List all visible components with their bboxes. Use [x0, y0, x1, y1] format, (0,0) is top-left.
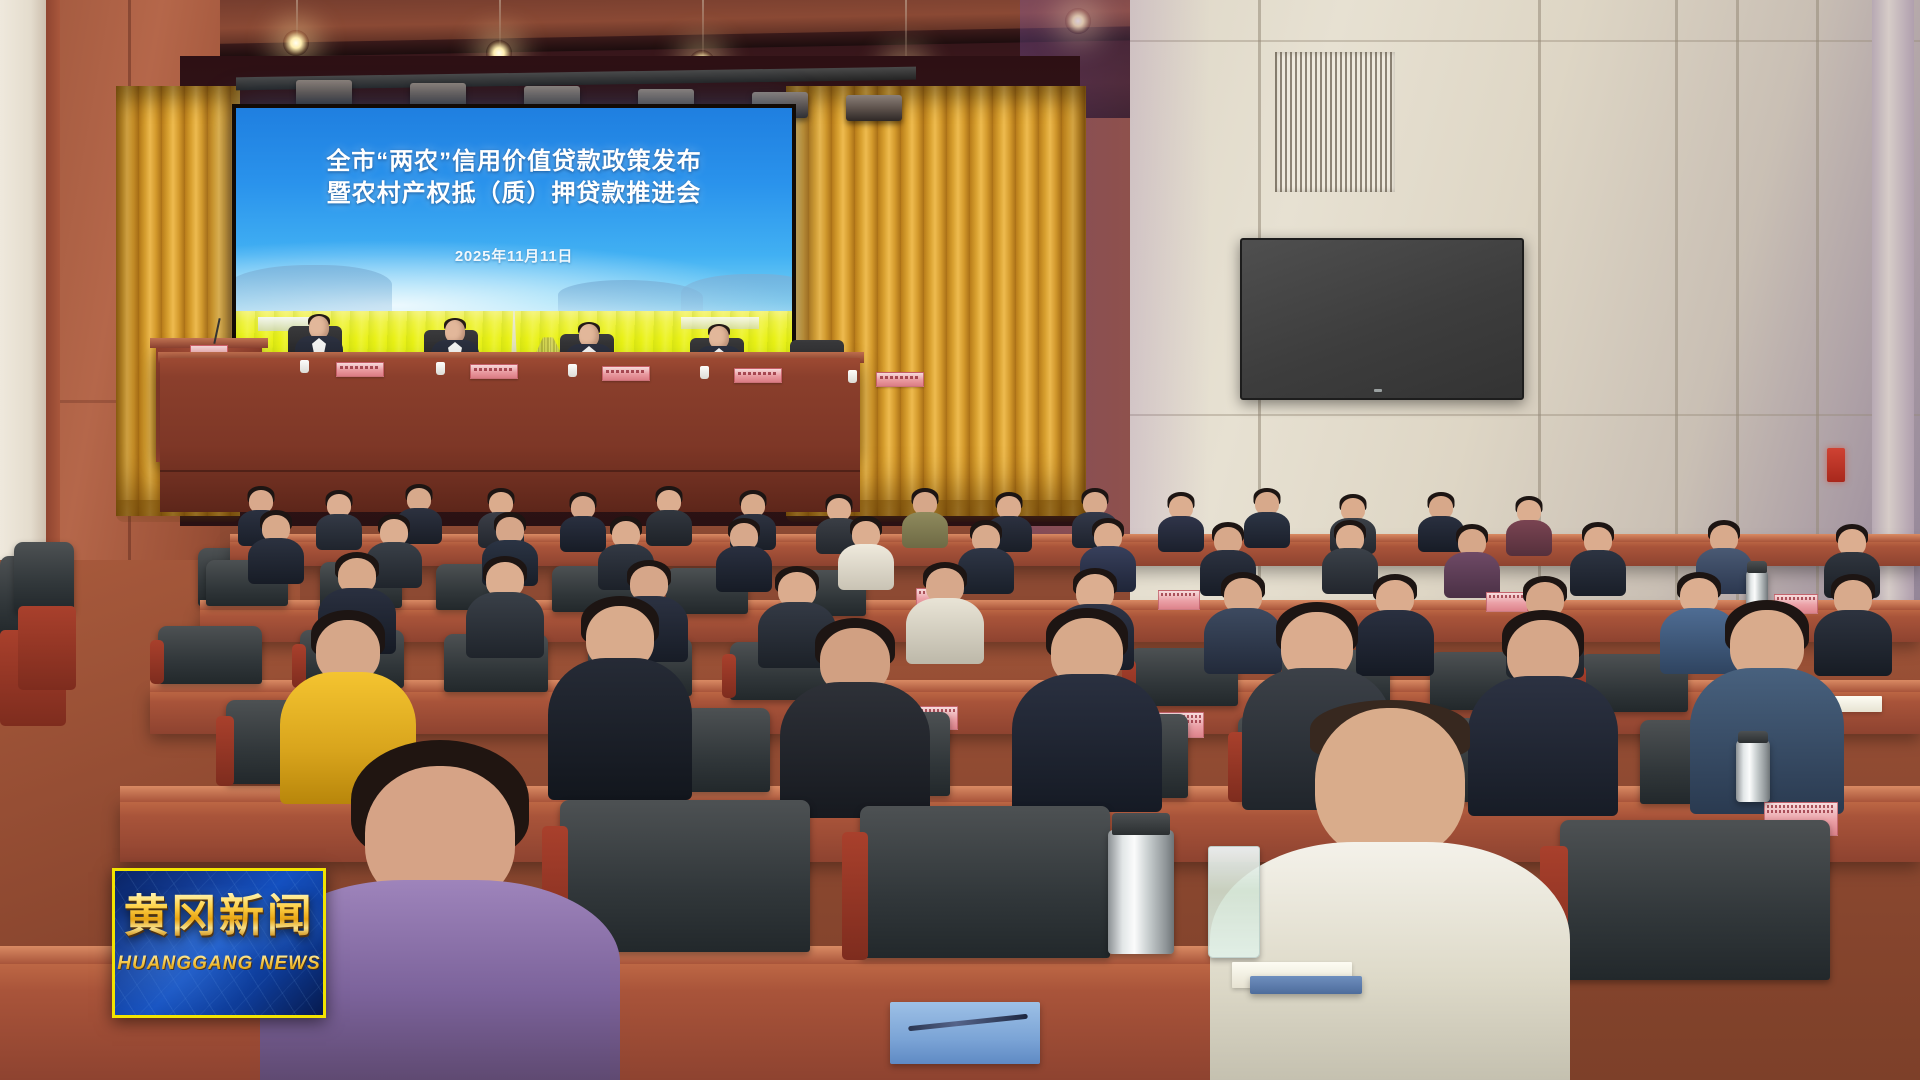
head-table-name-card	[602, 366, 650, 381]
ceiling-spotlight	[283, 30, 309, 56]
audience-member	[248, 510, 304, 582]
audience-member	[1506, 496, 1552, 554]
logo-english-title: HUANGGANG NEWS	[115, 953, 323, 975]
water-cup	[848, 370, 857, 383]
audience-member	[902, 488, 948, 546]
foreground-chair	[860, 806, 1110, 958]
thermos-lid	[1747, 561, 1766, 573]
thermos-lid	[1112, 813, 1170, 835]
torso	[1158, 516, 1204, 552]
glass-tea-cup	[1208, 846, 1260, 958]
head-table-name-card	[734, 368, 782, 383]
audience-member	[1012, 608, 1162, 808]
foreground-chair-frame	[842, 832, 868, 960]
audience-chair	[158, 626, 262, 684]
audience-member	[316, 490, 362, 548]
side-chair	[14, 542, 74, 612]
led-title-line1: 全市“两农”信用价值贷款政策发布	[326, 148, 701, 175]
torso	[902, 512, 948, 548]
head	[1315, 708, 1465, 858]
channel-logo-bug: 黄冈新闻 HUANGGANG NEWS	[112, 868, 326, 1018]
audience-member	[1158, 492, 1204, 550]
torso	[1210, 842, 1570, 1080]
torso	[248, 538, 304, 584]
head-table-name-card	[470, 364, 518, 379]
notebook	[890, 1002, 1040, 1064]
led-title: 全市“两农”信用价值贷款政策发布 暨农村产权抵（质）押贷款推进会	[236, 146, 792, 210]
audience-member	[780, 618, 930, 814]
foreground-member-white-shirt	[1210, 700, 1570, 1080]
monitor-power-led	[1374, 389, 1382, 392]
thermos-flask	[1108, 830, 1174, 954]
audience-chair-frame	[150, 640, 164, 684]
thermos-flask	[1736, 740, 1770, 802]
audience-member	[1444, 524, 1500, 596]
water-cup	[568, 364, 577, 377]
stage-light	[846, 95, 902, 121]
audience-chair-frame	[722, 654, 736, 698]
notebook	[1250, 976, 1362, 994]
torso	[466, 592, 544, 658]
head-table-name-card	[876, 372, 924, 387]
water-cup	[700, 366, 709, 379]
torso	[780, 682, 930, 818]
water-cup	[300, 360, 309, 373]
wall-speaker-grille-icon	[1275, 52, 1395, 192]
led-mountain	[681, 274, 792, 312]
head-table-name-card	[336, 362, 384, 377]
stage-light	[296, 80, 352, 106]
wall-seam-horizontal	[1130, 40, 1920, 42]
thermos-lid	[1738, 731, 1768, 743]
led-mountain	[236, 265, 392, 312]
torso	[838, 544, 894, 590]
torso	[1506, 520, 1552, 556]
wall-seam-horizontal	[1130, 414, 1920, 416]
screenshot-root: 全市“两农”信用价值贷款政策发布 暨农村产权抵（质）押贷款推进会 2025年11…	[0, 0, 1920, 1080]
head-table-skirt-seam	[160, 470, 860, 472]
audience-member	[838, 516, 894, 588]
torso	[316, 514, 362, 550]
led-date: 2025年11月11日	[236, 245, 792, 266]
wall-monitor	[1240, 238, 1524, 400]
torso	[1012, 674, 1162, 812]
audience-chair-frame	[216, 716, 234, 786]
led-title-line2: 暨农村产权抵（质）押贷款推进会	[236, 178, 792, 210]
logo-chinese-title: 黄冈新闻	[115, 893, 323, 938]
foreground-chair	[1560, 820, 1830, 980]
side-chair-frame	[18, 606, 76, 690]
audience-name-card	[1158, 590, 1200, 610]
audience-member	[466, 556, 544, 656]
water-cup	[436, 362, 445, 375]
exit-sign	[1827, 448, 1845, 482]
